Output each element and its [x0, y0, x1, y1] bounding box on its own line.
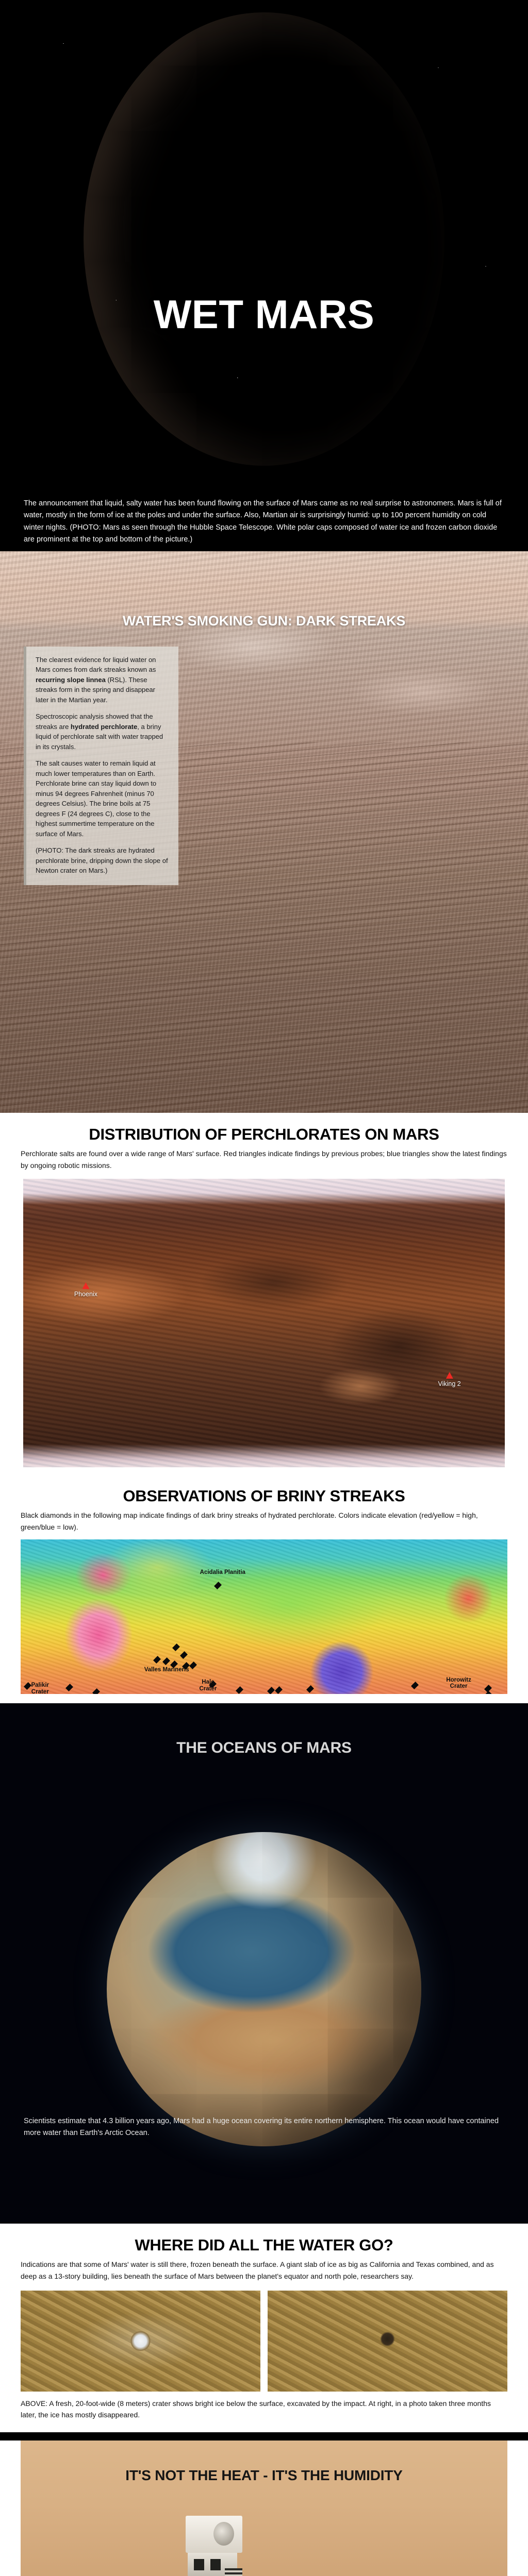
oceans-section: THE OCEANS OF MARS Scientists estimate t…	[0, 1703, 528, 2224]
oceans-title: THE OCEANS OF MARS	[0, 1739, 528, 1757]
smoking-gun-title: WATER'S SMOKING GUN: DARK STREAKS	[0, 613, 528, 629]
rover-lens-icon	[213, 2522, 234, 2546]
elevation-label-palikir-crater: PalikirCrater	[31, 1682, 49, 1694]
distribution-title: DISTRIBUTION OF PERCHLORATES ON MARS	[21, 1126, 507, 1143]
elevation-label-horowitz-crater: HorowitzCrater	[446, 1677, 471, 1690]
humidity-title: IT'S NOT THE HEAT - IT'S THE HUMIDITY	[21, 2467, 507, 2484]
curiosity-rover-photo: IT'S NOT THE HEAT - IT'S THE HUMIDITY Th…	[21, 2441, 507, 2576]
water-go-title: WHERE DID ALL THE WATER GO?	[21, 2237, 507, 2254]
ice-crater-photo-pair	[21, 2291, 507, 2392]
triangle-icon	[446, 1372, 453, 1379]
elevation-label-hale-crater: HaleCrater	[199, 1679, 217, 1692]
observations-subtitle: Black diamonds in the following map indi…	[21, 1510, 507, 1533]
page-title: WET MARS	[0, 291, 528, 338]
observations-title: OBSERVATIONS OF BRINY STREAKS	[21, 1488, 507, 1505]
smoking-gun-callout-box: The clearest evidence for liquid water o…	[24, 647, 178, 885]
oceans-caption: Scientists estimate that 4.3 billion yea…	[24, 2115, 504, 2140]
rover-rems-boom	[225, 2568, 242, 2576]
callout-paragraph-4: (PHOTO: The dark streaks are hydrated pe…	[36, 845, 169, 876]
map-marker-phoenix: Phoenix	[74, 1282, 97, 1298]
water-go-subtitle: Indications are that some of Mars' water…	[21, 2259, 507, 2282]
mars-hubble-photo	[84, 12, 444, 466]
ancient-ocean-mars-illustration	[107, 1832, 421, 2146]
mars-elevation-map: Acidalia PlanitiaValles MarinerisHaleCra…	[21, 1539, 507, 1694]
rover-mast-camera	[175, 2507, 263, 2576]
humidity-section: IT'S NOT THE HEAT - IT'S THE HUMIDITY Th…	[0, 2441, 528, 2576]
hero-section: WET MARS	[0, 0, 528, 484]
callout-p1-a: The clearest evidence for liquid water o…	[36, 656, 156, 674]
callout-paragraph-3: The salt causes water to remain liquid a…	[36, 758, 169, 839]
mars-surface-map: PhoenixViking 2Viking 1MSLCoprates Chasm…	[23, 1179, 505, 1467]
ice-crater-photo-caption: ABOVE: A fresh, 20-foot-wide (8 meters) …	[21, 2398, 507, 2421]
distribution-subtitle: Perchlorate salts are found over a wide …	[21, 1148, 507, 1171]
callout-paragraph-2: Spectroscopic analysis showed that the s…	[36, 711, 169, 752]
callout-p2-bold: hydrated perchlorate	[71, 723, 137, 731]
elevation-label-acidalia-planitia: Acidalia Planitia	[200, 1569, 245, 1576]
triangle-icon	[82, 1282, 89, 1289]
elevation-label-valles-marineris: Valles Marineris	[144, 1667, 189, 1673]
rover-navcam-left	[194, 2559, 204, 2570]
map-marker-viking-2: Viking 2	[438, 1372, 460, 1387]
mars-surface-texture	[23, 1179, 505, 1467]
observations-section: OBSERVATIONS OF BRINY STREAKS Black diam…	[0, 1477, 528, 1703]
distribution-section: DISTRIBUTION OF PERCHLORATES ON MARS Per…	[0, 1113, 528, 1477]
smoking-gun-section: WATER'S SMOKING GUN: DARK STREAKS The cl…	[0, 551, 528, 1113]
water-go-section: WHERE DID ALL THE WATER GO? Indications …	[0, 2224, 528, 2432]
callout-paragraph-1: The clearest evidence for liquid water o…	[36, 655, 169, 705]
callout-p1-bold: recurring slope linnea	[36, 676, 106, 684]
infographic-page: WET MARS The announcement that liquid, s…	[0, 0, 528, 2576]
fresh-crater-with-ice-photo	[21, 2291, 260, 2392]
intro-section: The announcement that liquid, salty wate…	[0, 484, 528, 551]
crater-three-months-later-photo	[268, 2291, 507, 2392]
rover-navcam-right	[210, 2559, 221, 2570]
elevation-relief-texture	[21, 1539, 507, 1694]
intro-paragraph: The announcement that liquid, salty wate…	[24, 498, 504, 546]
map-marker-label: Phoenix	[74, 1291, 97, 1298]
map-marker-label: Viking 2	[438, 1380, 460, 1387]
